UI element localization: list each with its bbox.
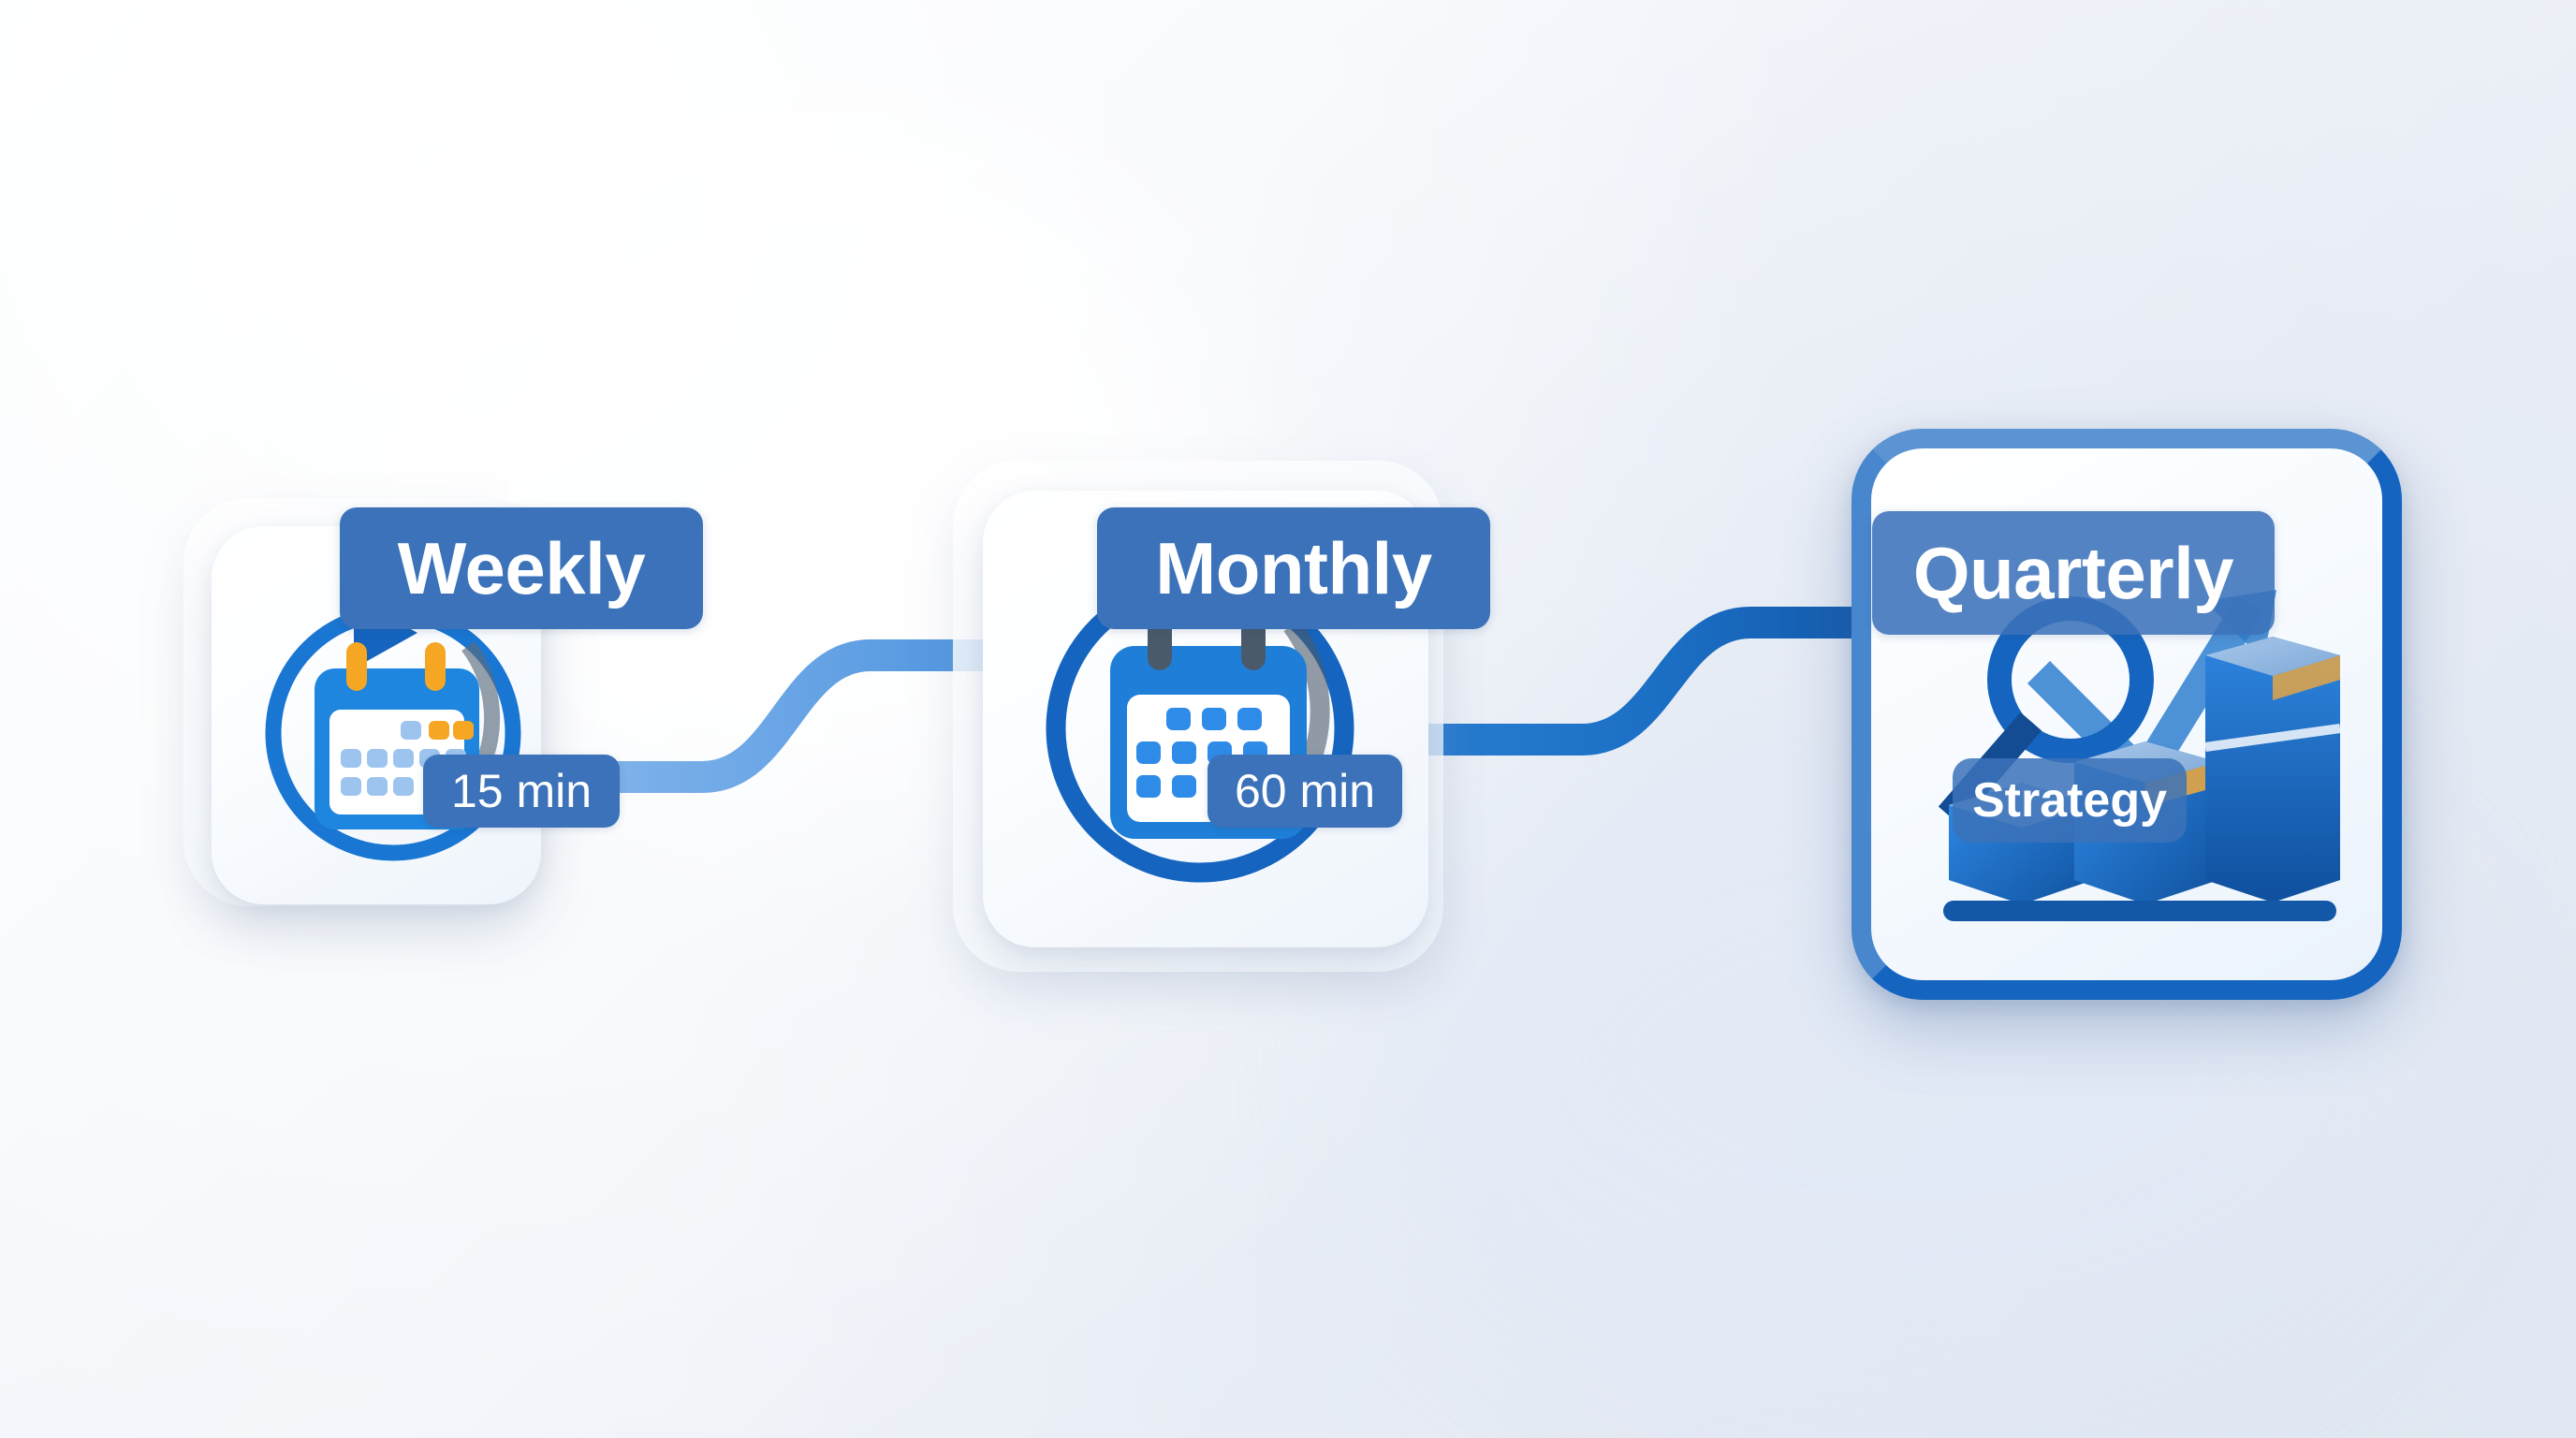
monthly-duration-badge: 60 min [1207, 755, 1402, 828]
quarterly-strategy-tag: Strategy [1953, 758, 2187, 843]
weekly-duration-badge: 15 min [423, 755, 620, 828]
diagram-canvas: Weekly 15 min [0, 0, 2576, 1438]
connector-monthly-to-quarterly [1376, 623, 1910, 740]
quarterly-title-badge: Quarterly [1872, 511, 2275, 635]
weekly-title-badge: Weekly [340, 507, 703, 629]
monthly-title-badge: Monthly [1097, 507, 1490, 629]
